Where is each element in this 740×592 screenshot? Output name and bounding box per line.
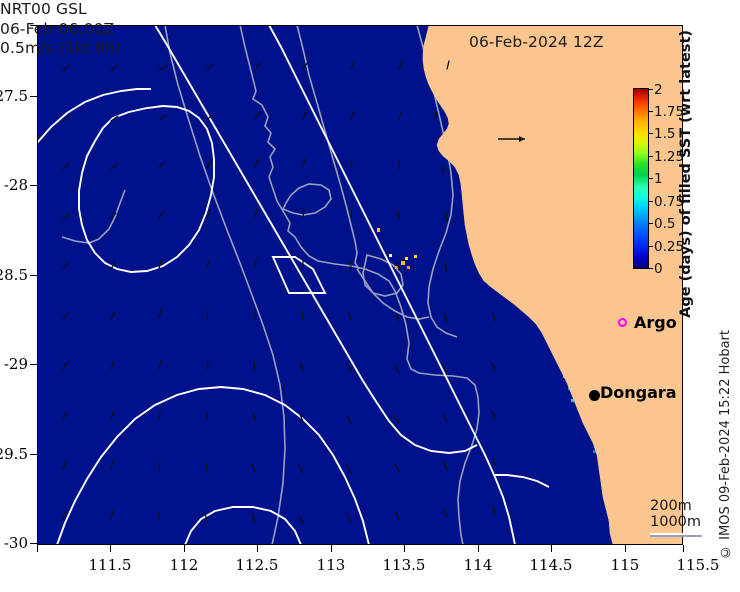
scale-label-1000m: 1000m: [650, 514, 701, 530]
colorbar-tick: [649, 246, 653, 247]
x-axis-label: 113: [296, 556, 366, 574]
colorbar-label: 0: [654, 261, 663, 277]
colorbar-tick: [649, 201, 653, 202]
x-axis-tick: [37, 545, 38, 552]
reference-vector-arrow-icon: [497, 133, 531, 145]
figure-canvas: 06-Feb-2024 12Z NRT00 GSL 06-Feb 06:00Z …: [0, 0, 740, 592]
x-axis-label: 114.5: [516, 556, 586, 574]
x-axis-tick: [257, 545, 258, 552]
colorbar-label: 0.5: [654, 216, 675, 232]
y-axis-tick: [30, 364, 37, 365]
x-axis-label: 112: [149, 556, 219, 574]
colorbar-tick: [649, 223, 653, 224]
colorbar-label: 2: [654, 82, 663, 98]
y-axis-tick: [30, 543, 37, 544]
bathymetry-scale-legend: 200m 1000m: [650, 498, 701, 530]
colorbar-tick: [649, 268, 653, 269]
colorbar-tick: [649, 111, 653, 112]
legend-line-time: 06-Feb 06:00Z: [0, 20, 740, 40]
argo-marker-icon[interactable]: [618, 318, 627, 327]
map-svg: [37, 25, 683, 545]
x-axis-label: 115: [590, 556, 660, 574]
x-axis-tick: [551, 545, 552, 552]
y-axis-tick: [30, 185, 37, 186]
y-axis-label: -30: [0, 534, 28, 552]
y-axis-tick: [30, 275, 37, 276]
legend-line-product: NRT00 GSL: [0, 0, 740, 20]
x-axis-label: 112.5: [222, 556, 292, 574]
colorbar-tick: [649, 156, 653, 157]
colorbar-tick: [649, 133, 653, 134]
colorbar-label: 1: [654, 171, 663, 187]
map-plot-area[interactable]: [37, 25, 683, 545]
x-axis-label: 111.5: [75, 556, 145, 574]
y-axis-label: -28.5: [0, 266, 28, 284]
scale-line-1000m: [650, 535, 702, 537]
x-axis-label: 113.5: [369, 556, 439, 574]
x-axis-tick: [404, 545, 405, 552]
x-axis-tick: [683, 545, 684, 552]
x-axis-tick: [478, 545, 479, 552]
x-axis-label: 114: [443, 556, 513, 574]
y-axis-label: -29: [0, 355, 28, 373]
copyright-text: © IMOS 09-Feb-2024 15:22 Hobart: [718, 330, 733, 559]
colorbar-tick: [649, 89, 653, 90]
copyright-wrapper: © IMOS 09-Feb-2024 15:22 Hobart: [718, 330, 736, 560]
y-axis-tick: [30, 25, 37, 26]
y-axis-label: -29.5: [0, 445, 28, 463]
colorbar-title: Age (days) of filled SST (wrt latest): [678, 30, 694, 318]
scale-label-200m: 200m: [650, 498, 701, 514]
colorbar-gradient[interactable]: [633, 88, 649, 269]
model-legend: NRT00 GSL 06-Feb 06:00Z 0.5m/s (1kt 6h): [0, 0, 740, 59]
colorbar-tick: [649, 178, 653, 179]
dongara-marker-icon: [589, 390, 600, 401]
colorbar-title-wrapper: Age (days) of filled SST (wrt latest): [678, 30, 696, 300]
x-axis-tick: [625, 545, 626, 552]
x-axis-tick: [110, 545, 111, 552]
y-axis-tick: [30, 96, 37, 97]
argo-label: Argo: [634, 313, 677, 332]
y-axis-label: -28: [0, 176, 28, 194]
y-axis-label: -27.5: [0, 87, 28, 105]
x-axis-tick: [331, 545, 332, 552]
dongara-label: Dongara: [600, 383, 677, 402]
x-axis-tick: [184, 545, 185, 552]
legend-line-scale: 0.5m/s (1kt 6h): [0, 39, 740, 59]
y-axis-tick: [30, 454, 37, 455]
x-axis-label: 115.5: [663, 556, 733, 574]
colorbar-label: 1.5: [654, 126, 675, 142]
